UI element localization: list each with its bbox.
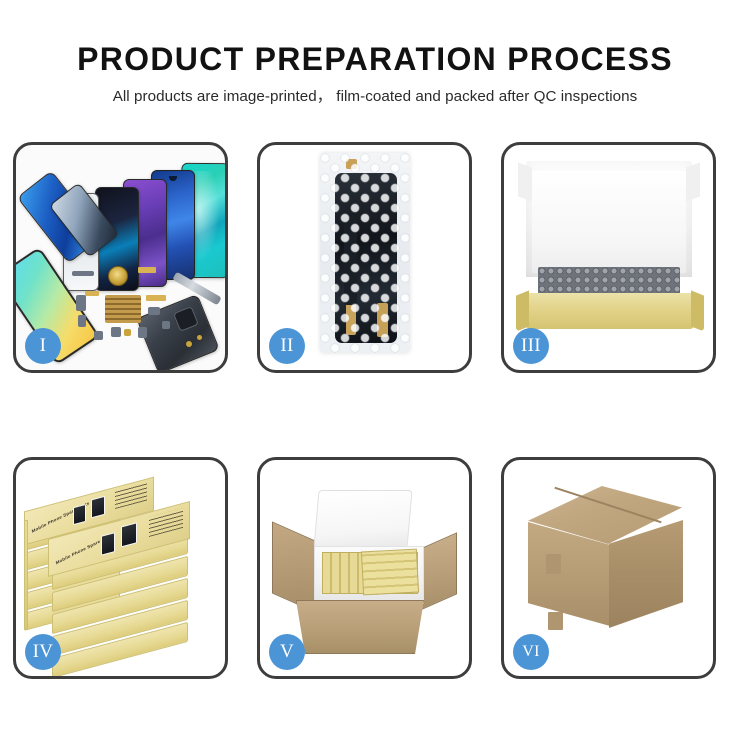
process-step-grid: I II III	[13, 142, 737, 679]
part-screw-1	[124, 329, 131, 336]
part-chip-1	[72, 271, 94, 276]
step-badge-5: V	[269, 634, 305, 670]
part-screw-2	[186, 341, 192, 347]
process-step-2: II	[257, 142, 472, 373]
process-step-4: Mobile Phone Spare Parts Mobile Phone Sp…	[13, 457, 228, 679]
chip-array-icon	[105, 295, 141, 323]
inner-box-base	[526, 293, 694, 329]
retail-box-artwork-b1	[73, 504, 86, 525]
retail-box-spec-lines-back	[115, 482, 147, 509]
process-step-6: VI	[501, 457, 716, 679]
step-badge-4: IV	[25, 634, 61, 670]
inner-box-contents	[538, 267, 680, 295]
part-chip-5	[111, 327, 121, 337]
part-flex-2	[85, 291, 99, 296]
phone-back-housing-icon	[136, 294, 220, 370]
part-screw-3	[197, 335, 202, 340]
process-step-1: I	[13, 142, 228, 373]
part-chip-6	[94, 331, 103, 340]
header: PRODUCT PREPARATION PROCESS All products…	[0, 0, 750, 107]
page-subtitle: All products are image-printed， film-coa…	[0, 87, 750, 107]
retail-box-side-shadow	[24, 520, 28, 630]
part-chip-8	[162, 321, 170, 329]
part-chip-7	[138, 327, 147, 338]
part-chip-3	[78, 315, 86, 327]
shipping-carton-tape-bottom	[548, 612, 563, 630]
part-chip-2	[76, 295, 86, 311]
speaker-coil-icon	[108, 266, 128, 286]
bubble-wrap-bag	[320, 153, 410, 353]
process-step-3: III	[501, 142, 716, 373]
inner-box-foam	[532, 171, 686, 273]
part-chip-4	[148, 307, 160, 315]
shipping-carton-tape-top	[546, 554, 561, 574]
retail-box-artwork-b2	[91, 496, 105, 519]
bubble-texture-icon	[320, 153, 410, 353]
carton-front-panel	[296, 600, 424, 654]
part-flex-3	[146, 295, 166, 301]
step-badge-6: VI	[513, 634, 549, 670]
foam-box-lid	[313, 490, 412, 548]
step-badge-1: I	[25, 328, 61, 364]
step-badge-3: III	[513, 328, 549, 364]
process-step-5: V	[257, 457, 472, 679]
part-flex-1	[138, 267, 156, 273]
product-preparation-infographic: PRODUCT PREPARATION PROCESS All products…	[0, 0, 750, 750]
retail-box-artwork-f2	[121, 522, 137, 547]
retail-box-spec-lines-front	[149, 508, 183, 537]
retail-box-artwork-f1	[101, 532, 115, 556]
step-badge-2: II	[269, 328, 305, 364]
packed-retail-boxes-row-2	[361, 549, 419, 596]
page-title: PRODUCT PREPARATION PROCESS	[0, 39, 750, 79]
